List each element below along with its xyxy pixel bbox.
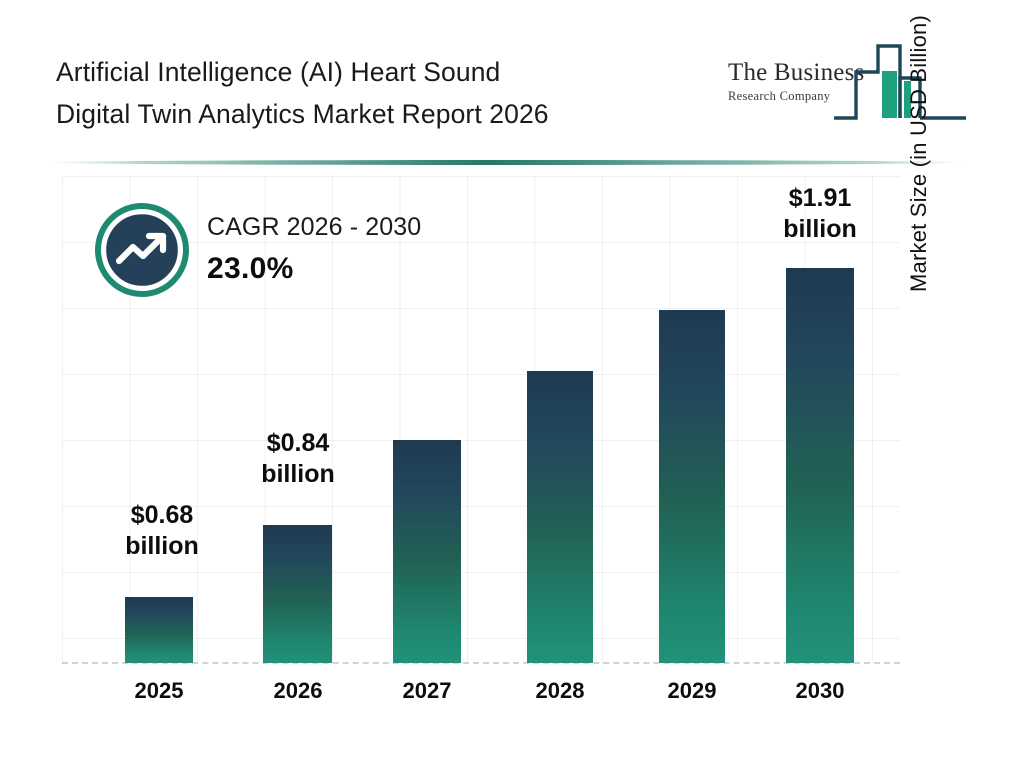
cagr-badge: CAGR 2026 - 2030 23.0% — [95, 203, 495, 315]
bar-value-label-2030: $1.91 billion — [756, 183, 884, 244]
bar-value-label-2030-unit: billion — [783, 215, 857, 243]
page-title-line-1: Artificial Intelligence (AI) Heart Sound — [56, 52, 696, 94]
bar-chart-skyline-icon — [834, 38, 968, 126]
x-axis-labels: 2025 2026 2027 2028 2029 2030 — [62, 678, 900, 718]
x-axis-label-2027: 2027 — [377, 678, 477, 704]
bar-2028[interactable] — [527, 371, 593, 663]
trending-up-arrow-icon — [95, 203, 189, 297]
bar-value-label-2025: $0.68 billion — [100, 500, 224, 561]
bar-value-label-2026: $0.84 billion — [234, 428, 362, 489]
header-divider — [48, 160, 964, 165]
x-axis-label-2028: 2028 — [510, 678, 610, 704]
cagr-value: 23.0% — [207, 252, 421, 286]
bar-value-label-2025-unit: billion — [125, 532, 199, 560]
x-axis-label-2029: 2029 — [642, 678, 742, 704]
x-axis-label-2025: 2025 — [109, 678, 209, 704]
x-axis-label-2030: 2030 — [770, 678, 870, 704]
y-axis-title: Market Size (in USD Billion) — [906, 0, 940, 292]
bar-value-label-2025-amount: $0.68 — [131, 501, 194, 529]
x-axis-label-2026: 2026 — [248, 678, 348, 704]
header: Artificial Intelligence (AI) Heart Sound… — [0, 0, 1024, 150]
bar-value-label-2026-amount: $0.84 — [267, 429, 330, 457]
bar-2029[interactable] — [659, 310, 725, 663]
page-title: Artificial Intelligence (AI) Heart Sound… — [56, 52, 696, 136]
bar-value-label-2030-amount: $1.91 — [789, 184, 852, 212]
page-title-line-2: Digital Twin Analytics Market Report 202… — [56, 94, 696, 136]
cagr-text-block: CAGR 2026 - 2030 23.0% — [207, 213, 421, 286]
bar-value-label-2026-unit: billion — [261, 460, 335, 488]
bar-2027[interactable] — [393, 440, 461, 663]
cagr-period-label: CAGR 2026 - 2030 — [207, 213, 421, 242]
bar-2026[interactable] — [263, 525, 332, 663]
bar-2025[interactable] — [125, 597, 193, 663]
bar-2030[interactable] — [786, 268, 854, 663]
market-report-chart-page: Artificial Intelligence (AI) Heart Sound… — [0, 0, 1024, 768]
